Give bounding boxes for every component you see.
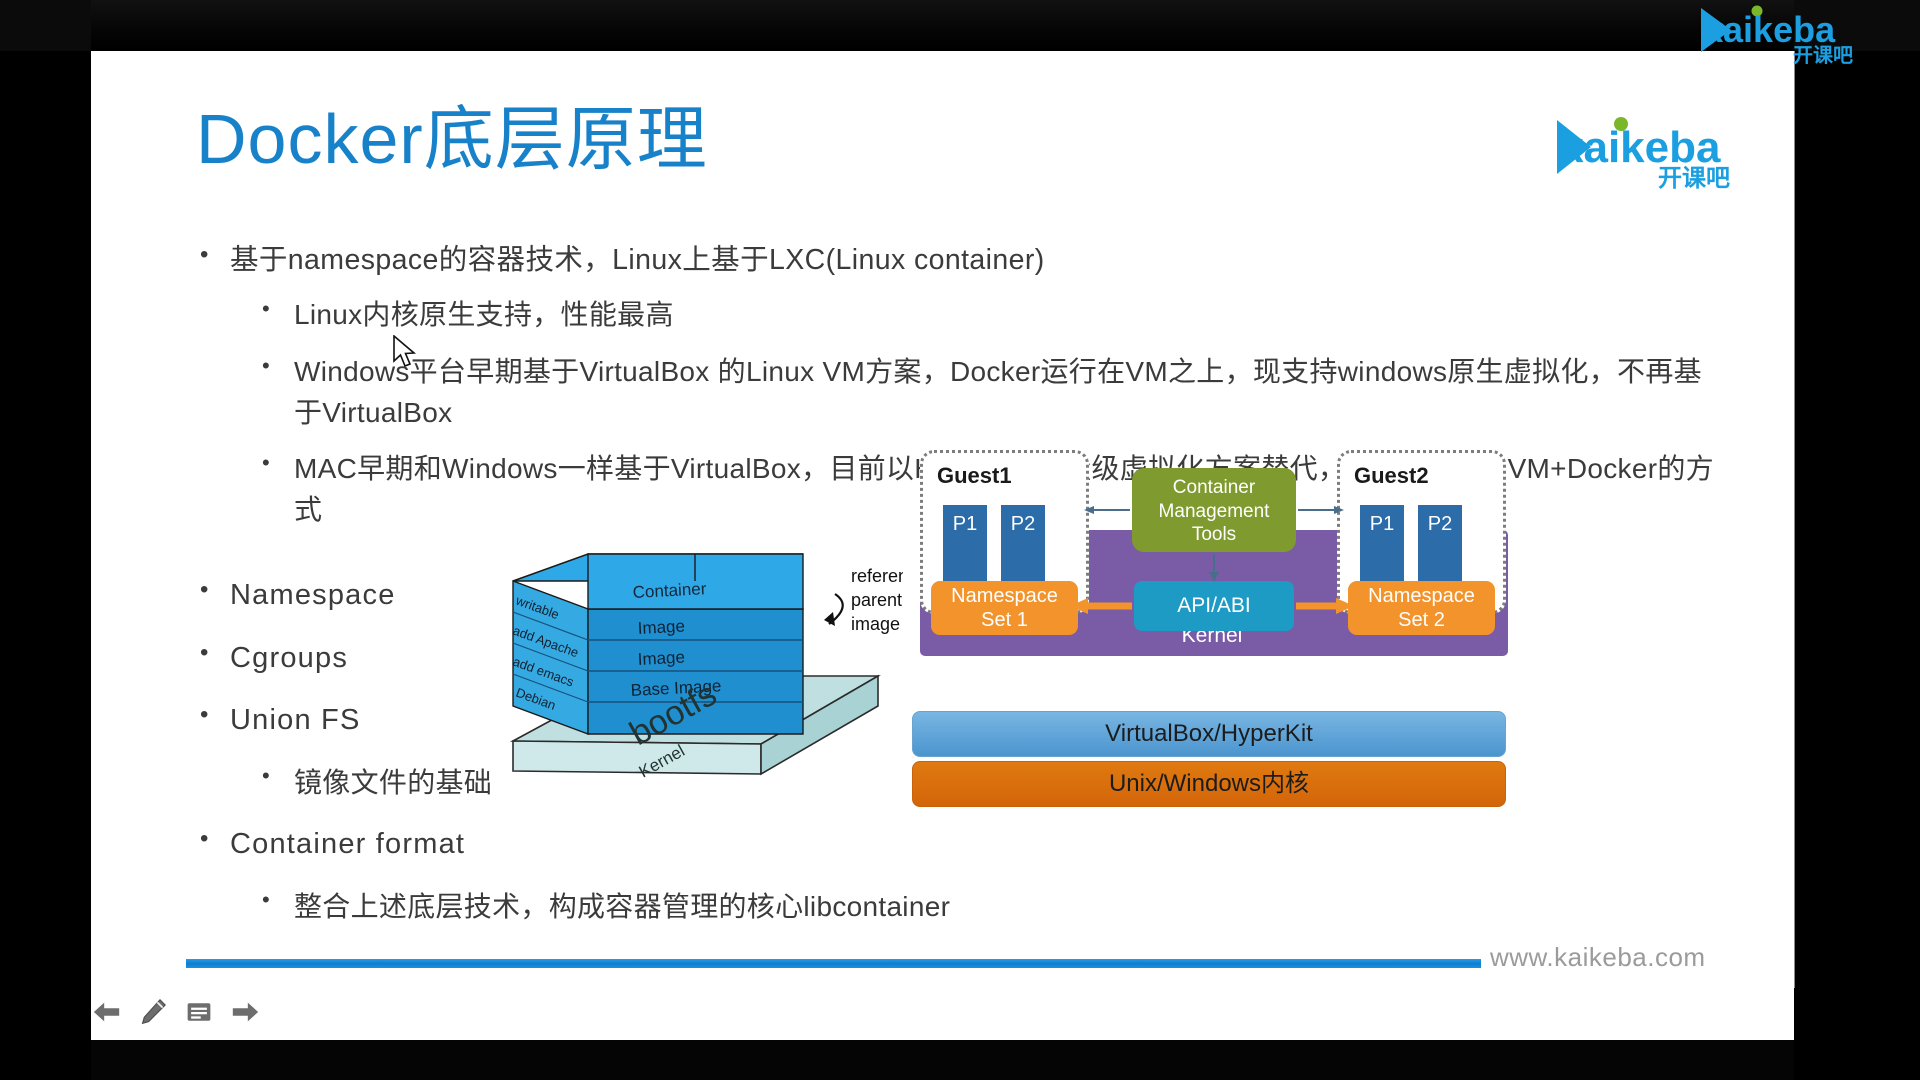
namespace-line-1: Namespace <box>931 585 1078 609</box>
right-arrow-icon <box>230 997 260 1027</box>
annotation-line-1: parent <box>851 590 902 610</box>
notes-button[interactable] <box>179 992 219 1032</box>
kaikeba-watermark-logo: kaikeba 开课吧 <box>1695 2 1910 64</box>
next-slide-button[interactable] <box>225 992 265 1032</box>
cmt-line-3: Tools <box>1132 523 1296 547</box>
container-architecture-figure: Kernel Guest1 P1 P2 Namespace Set 1 Gues… <box>912 446 1512 826</box>
player-top-bar-inner <box>91 0 1794 51</box>
layer-front-0: Container <box>632 579 707 602</box>
guest2-namespace-set: Namespace Set 2 <box>1348 581 1495 635</box>
annotation-line-2: image <box>851 614 900 634</box>
left-arrow-icon <box>92 997 122 1027</box>
guest2-box: Guest2 P1 P2 Namespace Set 2 <box>1337 450 1506 614</box>
document-icon <box>185 998 213 1026</box>
guest1-box: Guest1 P1 P2 Namespace Set 1 <box>920 450 1089 614</box>
virtualbox-hyperkit-bar: VirtualBox/HyperKit <box>912 711 1506 757</box>
cmt-line-1: Container <box>1132 476 1296 500</box>
guest1-process-p1: P1 <box>943 505 987 581</box>
guest2-process-p1: P1 <box>1360 505 1404 581</box>
player-top-bar <box>0 0 1920 51</box>
cmt-line-2: Management <box>1132 500 1296 524</box>
guest1-namespace-set: Namespace Set 1 <box>931 581 1078 635</box>
namespace-line-2: Set 2 <box>1348 609 1495 633</box>
bullet-item: Windows平台早期基于VirtualBox 的Linux VM方案，Dock… <box>196 352 1726 433</box>
svg-text:kaikeba: kaikeba <box>1703 9 1836 50</box>
process-label: P1 <box>1360 513 1404 536</box>
page-title: Docker底层原理 <box>196 104 708 174</box>
pencil-icon <box>139 998 167 1026</box>
slide-toolbar <box>91 988 1794 1040</box>
process-label: P2 <box>1418 513 1462 536</box>
layer-front-1: Image <box>637 617 685 638</box>
namespace-line-1: Namespace <box>1348 585 1495 609</box>
annotation-line-0: references <box>851 566 903 586</box>
annotate-button[interactable] <box>133 992 173 1032</box>
svg-text:开课吧: 开课吧 <box>1793 44 1853 64</box>
video-player-stage: kaikeba 开课吧 Docker底层原理 kaikeba 开课吧 基于nam… <box>0 0 1920 1080</box>
process-label: P1 <box>943 513 987 536</box>
footer-url: www.kaikeba.com <box>1490 942 1706 973</box>
player-bottom-strip <box>91 1040 1794 1080</box>
list-item: Container format <box>196 826 956 864</box>
slide-toolbar-icons <box>87 992 265 1032</box>
kaikeba-logo: kaikeba 开课吧 <box>1553 112 1768 190</box>
guest2-label: Guest2 <box>1354 463 1429 489</box>
prev-slide-button[interactable] <box>87 992 127 1032</box>
guest2-process-p2: P2 <box>1418 505 1462 581</box>
slide-canvas: Docker底层原理 kaikeba 开课吧 基于namespace的容器技术，… <box>91 51 1795 988</box>
bullet-item: Linux内核原生支持，性能最高 <box>196 295 1726 336</box>
guest1-label: Guest1 <box>937 463 1012 489</box>
api-abi-box: API/ABI <box>1134 581 1294 631</box>
process-label: P2 <box>1001 513 1045 536</box>
svg-text:开课吧: 开课吧 <box>1658 165 1730 190</box>
docker-layer-figure: Container Image Image Base Image writabl… <box>483 546 903 816</box>
unix-windows-kernel-bar: Unix/Windows内核 <box>912 761 1506 807</box>
bullet-item: 基于namespace的容器技术，Linux上基于LXC(Linux conta… <box>196 240 1726 280</box>
guest1-process-p2: P2 <box>1001 505 1045 581</box>
container-management-tools-box: Container Management Tools <box>1132 468 1296 552</box>
footer-rule <box>186 959 1481 968</box>
namespace-line-2: Set 1 <box>931 609 1078 633</box>
mouse-cursor <box>393 335 419 369</box>
list-item: 整合上述底层技术，构成容器管理的核心libcontainer <box>196 889 956 925</box>
layer-front-2: Image <box>637 648 685 669</box>
